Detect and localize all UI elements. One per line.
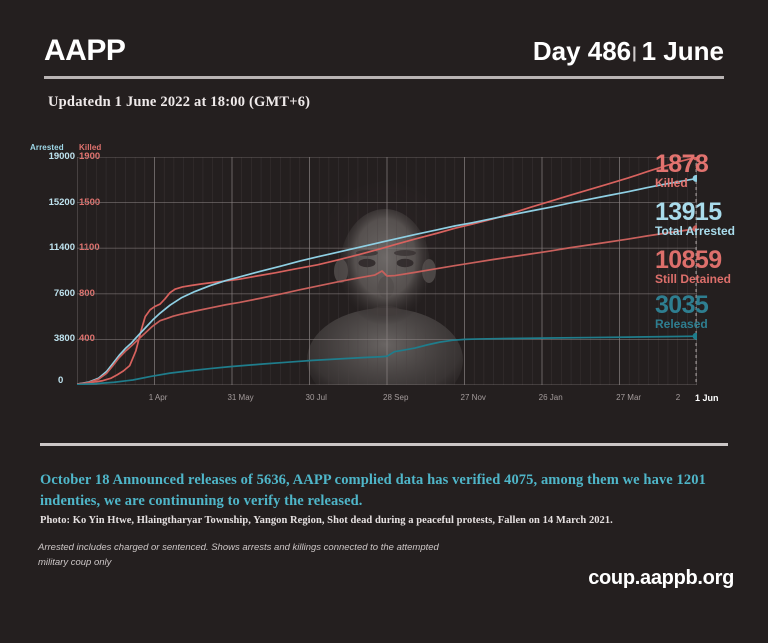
callout-killed-label: Killed (655, 177, 708, 190)
website-url: coup.aappb.org (588, 567, 734, 590)
left-axis-tick-label: 7600 (30, 289, 75, 299)
x-axis-tick-label: 2 (676, 393, 680, 402)
updated-timestamp: Updatedn 1 June 2022 at 18:00 (GMT+6) (48, 94, 310, 111)
disclaimer: Arrested includes charged or sentenced. … (38, 541, 458, 570)
callout-released-label: Released (655, 318, 708, 331)
callout-released: 3035 Released (655, 294, 708, 331)
infographic-page: AAPP Day 486 | 1 June Updatedn 1 June 20… (0, 0, 768, 643)
footer-divider (40, 443, 728, 446)
day-counter: Day 486 | 1 June (533, 36, 724, 67)
date-label: 1 June (642, 36, 724, 67)
brand-title: AAPP (44, 34, 125, 68)
x-axis-tick-label: 1 Apr (149, 393, 168, 402)
left-axis-tick-label: 11400 (30, 243, 75, 253)
chart-lines (77, 157, 697, 385)
x-axis-tick-label: 31 May (227, 393, 253, 402)
plot-area (77, 157, 697, 385)
x-axis-tick-label: 26 Jan (539, 393, 563, 402)
x-origin-zero: 0 (58, 375, 63, 386)
x-axis-tick-label: 30 Jul (306, 393, 327, 402)
day-separator: | (632, 45, 636, 63)
left-axis-tick-label: 19000 (30, 152, 75, 162)
callout-total-arrested: 13915 Total Arrested (655, 201, 735, 238)
x-axis-tick-label: 1 Jun (695, 393, 719, 403)
callout-total-arrested-value: 13915 (655, 201, 735, 224)
chart: Arrested Killed 038007600114001520019000… (30, 143, 738, 413)
photo-credit: Photo: Ko Yin Htwe, Hlaingtharyar Townsh… (40, 515, 740, 526)
callout-killed: 1878 Killed (655, 153, 708, 190)
callout-released-value: 3035 (655, 294, 708, 317)
header: AAPP Day 486 | 1 June (44, 28, 724, 74)
day-label: Day 486 (533, 36, 631, 67)
callout-still-detained-value: 10859 (655, 249, 731, 272)
left-axis-tick-label: 15200 (30, 198, 75, 208)
x-axis-tick-label: 28 Sep (383, 393, 408, 402)
callout-killed-value: 1878 (655, 153, 708, 176)
header-divider (44, 76, 724, 79)
x-axis-tick-label: 27 Mar (616, 393, 641, 402)
value-callouts: 1878 Killed 13915 Total Arrested 10859 S… (655, 143, 768, 373)
left-axis-tick-label: 3800 (30, 334, 75, 344)
callout-total-arrested-label: Total Arrested (655, 225, 735, 238)
callout-still-detained: 10859 Still Detained (655, 249, 731, 286)
x-axis-tick-label: 27 Nov (461, 393, 486, 402)
callout-still-detained-label: Still Detained (655, 273, 731, 286)
release-note: October 18 Announced releases of 5636, A… (40, 470, 730, 512)
